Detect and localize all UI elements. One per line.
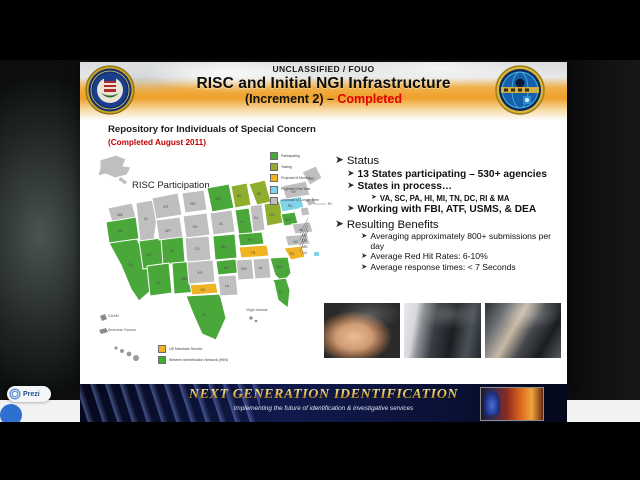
- svg-text:NM: NM: [181, 277, 187, 281]
- bullet-text: States in process…: [358, 181, 453, 192]
- bullet-response-times: ➤ Average response times: < 7 Seconds: [361, 263, 563, 272]
- handheld-device-photo: [484, 302, 562, 359]
- bullet-list: ➤ Status ➤ 13 States participating – 530…: [335, 154, 563, 273]
- bullet-status: ➤ Status: [335, 155, 563, 167]
- legend-item: Projected One Year: [270, 186, 340, 194]
- arrow-bullet-icon: ➤: [361, 252, 367, 260]
- bullet-state-list: ➤ VA, SC, PA, HI, MI, TN, DC, RI & MA: [371, 194, 563, 203]
- svg-text:OK: OK: [200, 288, 206, 292]
- section-heading: Repository for Individuals of Special Co…: [108, 124, 316, 135]
- legend-item: US Marshals Service: [158, 345, 228, 353]
- bullet-text: 13 States participating – 530+ agencies: [358, 169, 547, 180]
- bullet-text: Average Red Hit Rates: 6-10%: [370, 252, 487, 261]
- letterbox-top: [0, 0, 640, 60]
- svg-text:AL: AL: [259, 266, 263, 270]
- arrow-bullet-icon: ➤: [361, 232, 367, 240]
- legend-item: Projected 6 Months: [270, 174, 340, 182]
- svg-text:UT: UT: [170, 249, 176, 253]
- legend-swatch: [270, 186, 278, 194]
- svg-text:KS: KS: [198, 271, 203, 275]
- state-TX: [186, 294, 226, 340]
- photo-glare: [324, 303, 400, 358]
- svg-text:OR: OR: [117, 229, 123, 233]
- arrow-bullet-icon: ➤: [335, 219, 344, 230]
- frame-strip-right: [567, 400, 640, 422]
- svg-text:TX: TX: [202, 313, 207, 317]
- arrow-bullet-icon: ➤: [371, 194, 377, 203]
- svg-text:MO: MO: [221, 245, 227, 249]
- svg-text:MN: MN: [215, 197, 221, 201]
- fbi-seal-icon: [84, 65, 136, 115]
- svg-text:IN: IN: [254, 216, 258, 220]
- svg-text:WY: WY: [165, 229, 171, 233]
- svg-text:AZ: AZ: [156, 281, 161, 285]
- legend-item: Unknown or Longer Term: [270, 197, 340, 205]
- legend-swatch: [270, 197, 278, 205]
- fingerprint-scan-photo: [323, 302, 401, 359]
- arrow-bullet-icon: ➤: [347, 181, 355, 190]
- arrow-bullet-icon: ➤: [347, 204, 355, 213]
- bullet-states-participating: ➤ 13 States participating – 530+ agencie…: [347, 169, 563, 180]
- prezi-label: Prezi: [23, 391, 40, 398]
- state-AK: [98, 155, 131, 178]
- completed-status-label: Completed: [337, 92, 402, 106]
- bullet-text: Averaging approximately 800+ submissions…: [370, 232, 563, 251]
- video-frame: UNCLASSIFIED / FOUO RISC and Initial NGI…: [0, 0, 640, 480]
- slide-body: Repository for Individuals of Special Co…: [80, 120, 567, 384]
- map-legend-secondary: US Marshals Service Western Identificati…: [158, 345, 228, 367]
- bullet-text: Average response times: < 7 Seconds: [370, 263, 515, 272]
- svg-text:MS: MS: [241, 267, 247, 271]
- legend-item: Participating: [270, 152, 340, 160]
- svg-text:WV: WV: [285, 218, 291, 222]
- bullet-averaging-submissions: ➤ Averaging approximately 800+ submissio…: [361, 232, 563, 251]
- photo-glare: [404, 303, 480, 358]
- svg-text:IL: IL: [241, 220, 244, 224]
- bullet-states-in-process: ➤ States in process…: [347, 181, 563, 192]
- ngi-banner: Next Generation Identification Implement…: [80, 384, 567, 422]
- territory-label-guam: GUAM: [108, 314, 119, 318]
- svg-text:OH: OH: [269, 213, 275, 217]
- slide-header: UNCLASSIFIED / FOUO RISC and Initial NGI…: [80, 62, 567, 120]
- room-background-right: [560, 55, 640, 425]
- legend-swatch: [158, 345, 166, 353]
- legend-label: Projected One Year: [281, 187, 310, 192]
- letterbox-bottom: [0, 422, 640, 480]
- legend-label: Western Identification Network (WIN): [169, 358, 228, 363]
- bullet-text: Status: [347, 155, 379, 167]
- bullet-text: VA, SC, PA, HI, MI, TN, DC, RI & MA: [380, 194, 510, 203]
- svg-text:NC: NC: [293, 240, 299, 244]
- territory-label-american-samoa: American Samoa: [108, 328, 136, 332]
- svg-text:DE: DE: [302, 239, 308, 243]
- bullet-text: Working with FBI, ATF, USMS, & DEA: [358, 204, 537, 215]
- svg-text:NV: NV: [147, 253, 153, 257]
- svg-text:CO: CO: [194, 247, 200, 251]
- svg-text:GA: GA: [276, 265, 282, 269]
- svg-text:ID: ID: [144, 217, 148, 221]
- svg-text:MT: MT: [163, 205, 169, 209]
- legend-label: Unknown or Longer Term: [281, 198, 319, 203]
- prezi-badge[interactable]: Prezi: [7, 386, 51, 402]
- legend-swatch: [270, 174, 278, 182]
- map-legend: Participating Testing Projected 6 Months…: [270, 152, 340, 208]
- photo-glare: [485, 303, 561, 358]
- bullet-resulting-benefits: ➤ Resulting Benefits: [335, 219, 563, 231]
- svg-text:TN: TN: [251, 251, 256, 255]
- prezi-logo-icon: [9, 388, 21, 400]
- bullet-working-with-agencies: ➤ Working with FBI, ATF, USMS, & DEA: [347, 204, 563, 215]
- svg-text:WA: WA: [117, 213, 123, 217]
- svg-text:AR: AR: [224, 266, 229, 270]
- bullet-text: Resulting Benefits: [347, 219, 439, 231]
- photo-strip: [323, 302, 562, 359]
- arrow-bullet-icon: ➤: [335, 155, 344, 166]
- svg-text:SD: SD: [193, 225, 198, 229]
- legend-swatch: [270, 163, 278, 171]
- legend-swatch: [158, 356, 166, 364]
- increment-label: (Increment 2) –: [245, 92, 337, 106]
- ngi-globe-seal-icon: [492, 65, 548, 115]
- legend-label: Participating: [281, 154, 300, 159]
- state-AZ: [147, 263, 172, 296]
- svg-text:NJ: NJ: [302, 233, 307, 237]
- arrow-bullet-icon: ➤: [347, 169, 355, 178]
- svg-text:WI: WI: [237, 194, 241, 198]
- state-NJ: [300, 207, 310, 216]
- svg-text:DC: DC: [302, 251, 308, 255]
- legend-swatch: [270, 152, 278, 160]
- hand-and-fingerprint-thumbnail: [480, 387, 544, 421]
- arrow-bullet-icon: ➤: [361, 263, 367, 271]
- svg-text:FL: FL: [279, 290, 283, 294]
- legend-label: US Marshals Service: [169, 347, 203, 352]
- svg-text:MD: MD: [302, 245, 308, 249]
- legend-label: Testing: [281, 165, 292, 170]
- legend-label: Projected 6 Months: [281, 176, 310, 181]
- officer-at-vehicle-photo: [403, 302, 481, 359]
- risc-participation-map[interactable]: RISC Participation: [86, 148, 338, 378]
- territory-label-virgin-islands: Virgin Islands: [246, 308, 268, 312]
- bullet-red-hit-rates: ➤ Average Red Hit Rates: 6-10%: [361, 252, 563, 261]
- section-subheading: (Completed August 2011): [108, 138, 206, 147]
- hand-icon: [484, 391, 500, 415]
- legend-item: Testing: [270, 163, 340, 171]
- svg-text:KY: KY: [248, 238, 253, 242]
- svg-text:CA: CA: [128, 263, 134, 267]
- svg-text:SC: SC: [290, 252, 295, 256]
- svg-text:LA: LA: [225, 284, 230, 288]
- svg-text:IA: IA: [219, 222, 223, 226]
- svg-text:ND: ND: [190, 202, 196, 206]
- svg-text:MI: MI: [257, 192, 261, 196]
- legend-item: Western Identification Network (WIN): [158, 356, 228, 364]
- presentation-slide[interactable]: UNCLASSIFIED / FOUO RISC and Initial NGI…: [80, 62, 567, 384]
